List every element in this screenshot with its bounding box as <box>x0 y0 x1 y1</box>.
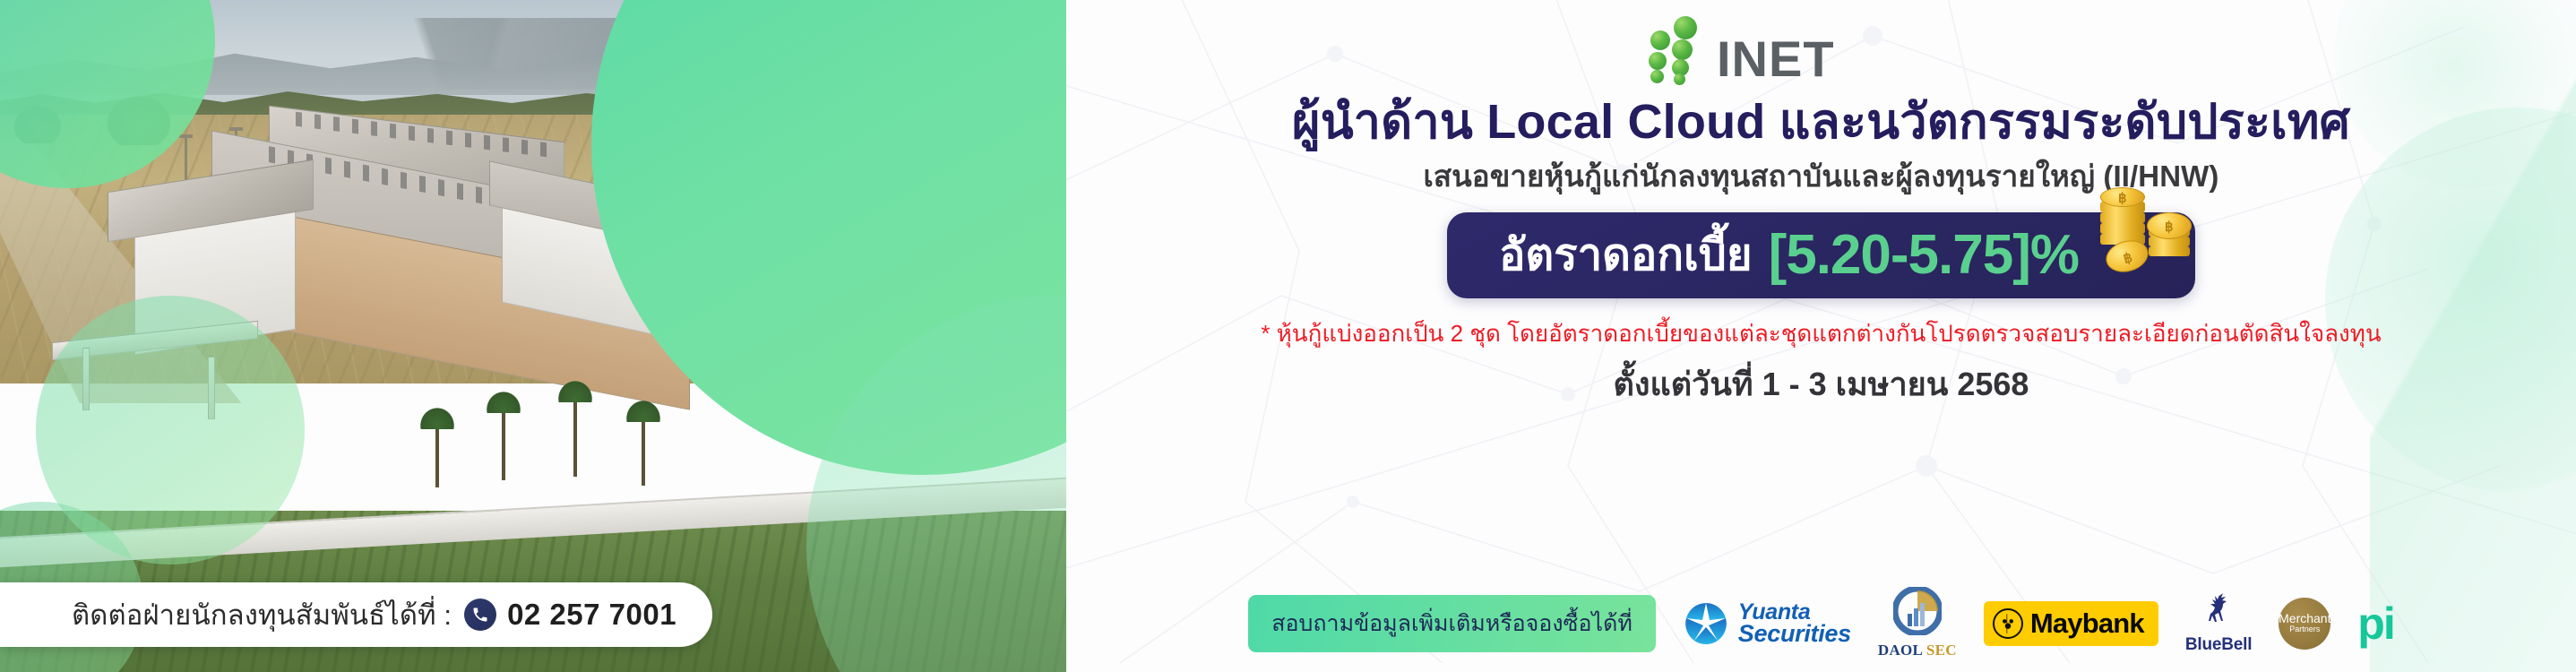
palm-tree <box>642 414 645 486</box>
phone-icon <box>464 599 496 631</box>
investor-relations-contact-box[interactable]: ติดต่อฝ่ายนักลงทุนสัมพันธ์ได้ที่ : 02 25… <box>0 582 712 647</box>
palm-tree <box>573 394 577 477</box>
interest-rate-value: [5.20-5.75]% <box>1769 223 2079 287</box>
partner-logo-pi-securities[interactable]: pi <box>2357 606 2393 642</box>
daol-circle-icon <box>1893 624 1942 639</box>
disclaimer-text: * หุ้นกู้แบ่งออกเป็น 2 ชุด โดยอัตราดอกเบ… <box>1066 315 2576 352</box>
palm-tree <box>435 421 439 487</box>
gold-coins-icon: ฿ ฿ ฿ <box>2084 182 2202 289</box>
partner-logo-yuanta-securities[interactable]: Yuanta Securities <box>1683 600 1851 647</box>
maybank-tiger-icon <box>1993 608 2023 639</box>
daol-wordmark: DAOL SEC <box>1878 642 1957 659</box>
cta-enquiry-button[interactable]: สอบถามข้อมูลเพิ่มเติมหรือจองซื้อได้ที่ <box>1248 595 1656 652</box>
inet-dots-icon <box>1647 14 1713 82</box>
yuanta-wordmark: Yuanta Securities <box>1738 602 1851 645</box>
merchant-line1: Merchant <box>2279 612 2330 625</box>
bluebell-deer-icon <box>2201 618 2236 633</box>
palm-tree <box>502 405 505 480</box>
offer-date-range: ตั้งแต่วันที่ 1 - 3 เมษายน 2568 <box>1066 358 2576 409</box>
interest-rate-box: อัตราดอกเบี้ย [5.20-5.75]% ฿ ฿ <box>1447 212 2195 298</box>
content-panel: INET ผู้นำด้าน Local Cloud และนวัตกรรมระ… <box>1066 0 2576 672</box>
yuanta-star-icon <box>1683 600 1729 647</box>
page-subtitle: เสนอขายหุ้นกู้แก่นักลงทุนสถาบันและผู้ลงท… <box>1066 152 2576 200</box>
page-title: ผู้นำด้าน Local Cloud และนวัตกรรมระดับปร… <box>1066 82 2576 159</box>
data-center-campus-photo <box>0 0 1066 672</box>
interest-rate-label: อัตราดอกเบี้ย <box>1499 220 1753 289</box>
partner-logo-merchant-partners[interactable]: Merchant Partners <box>2279 598 2330 650</box>
inet-logo: INET <box>1647 14 1835 82</box>
interest-rate-banner: อัตราดอกเบี้ย [5.20-5.75]% ฿ ฿ <box>1066 212 2576 298</box>
partners-row: สอบถามข้อมูลเพิ่มเติมหรือจองซื้อได้ที่ <box>1066 587 2576 659</box>
pi-logo-icon: pi <box>2357 606 2393 642</box>
contact-label: ติดต่อฝ่ายนักลงทุนสัมพันธ์ได้ที่ : <box>72 592 452 637</box>
partner-logo-maybank[interactable]: Maybank <box>1984 601 2158 646</box>
inet-logo-text: INET <box>1717 35 1835 82</box>
bluebell-wordmark: BlueBell <box>2185 635 2252 655</box>
merchant-line2: Partners <box>2289 625 2320 633</box>
inet-promo-banner: ติดต่อฝ่ายนักลงทุนสัมพันธ์ได้ที่ : 02 25… <box>0 0 2576 672</box>
maybank-wordmark: Maybank <box>2030 607 2144 640</box>
partner-logo-daol-sec[interactable]: DAOL SEC <box>1878 587 1957 659</box>
contact-phone-number[interactable]: 02 257 7001 <box>507 598 676 632</box>
partner-logo-bluebell[interactable]: BlueBell <box>2185 592 2252 655</box>
